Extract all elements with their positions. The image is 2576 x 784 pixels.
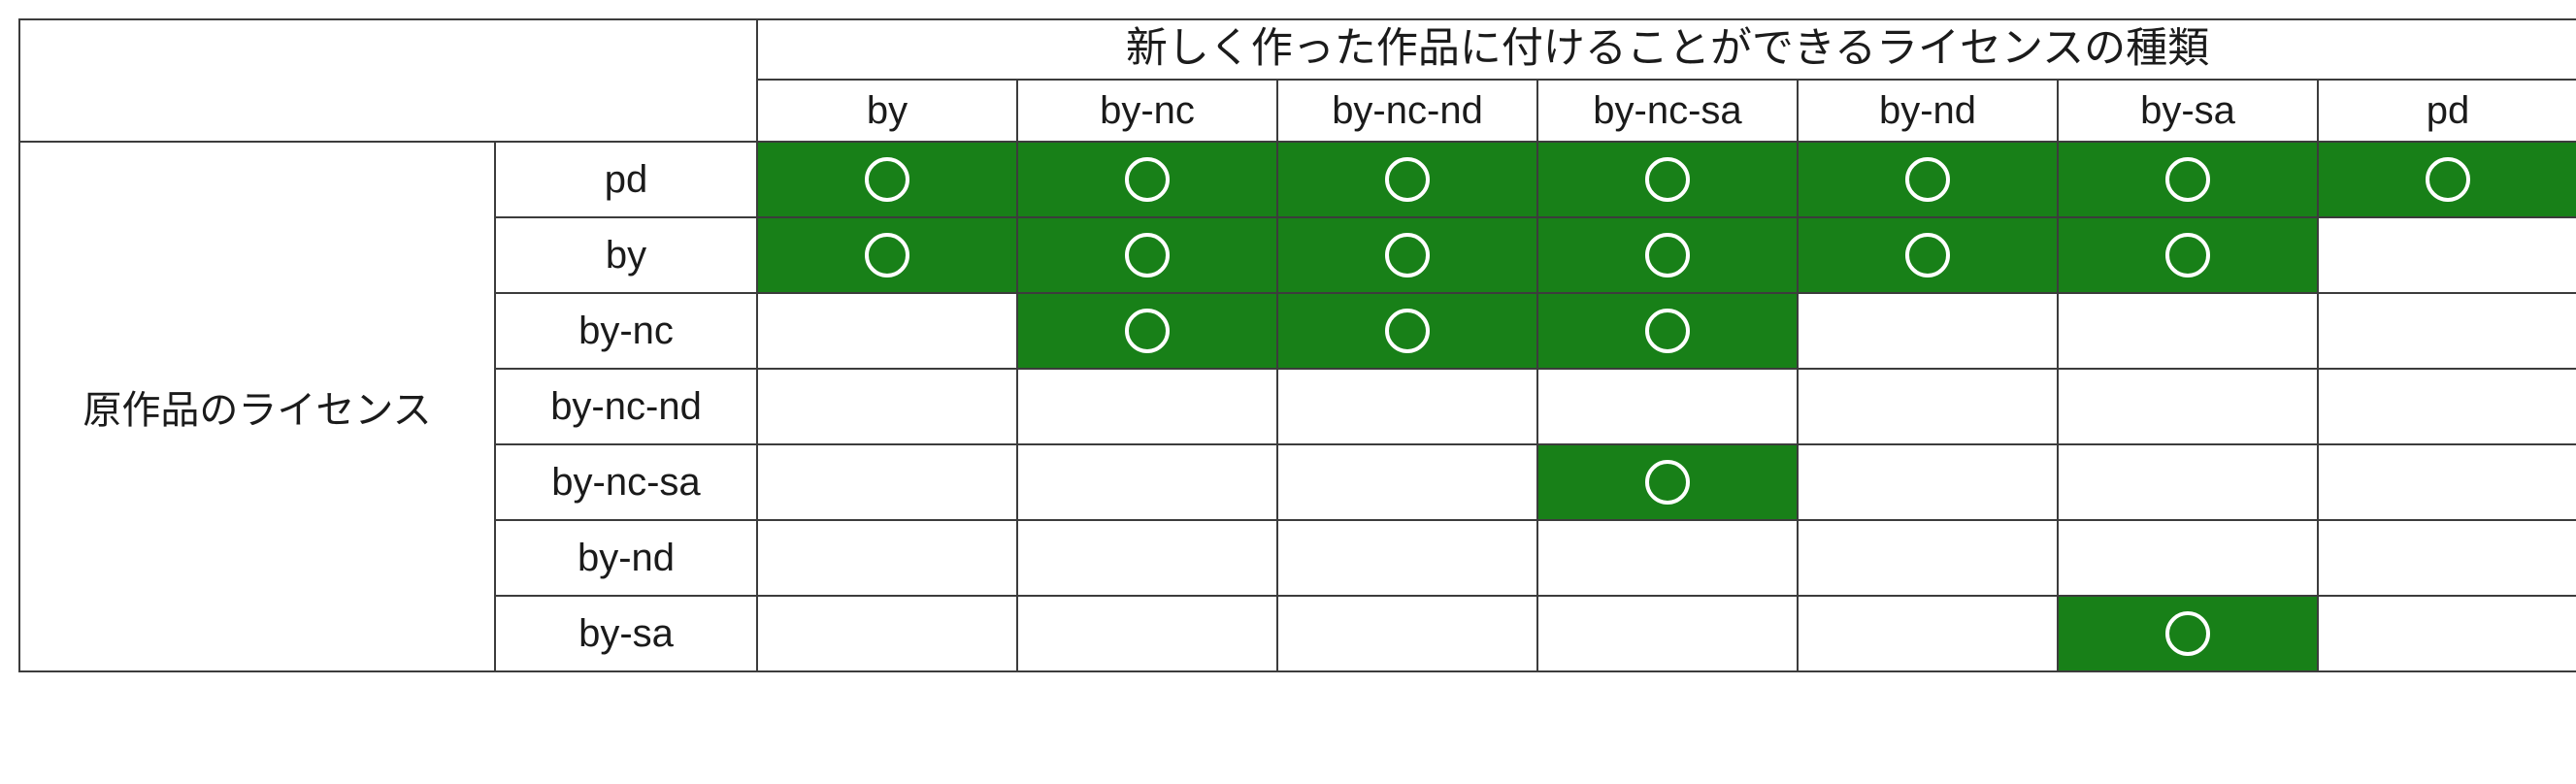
row-header-by-nc-nd: by-nc-nd (495, 369, 757, 444)
cell-by-nc-sa-to-pd (2318, 444, 2576, 520)
row-header-pd: pd (495, 142, 757, 217)
allowed-circle-icon (865, 157, 909, 202)
cell-by-nc-nd-to-by (757, 369, 1017, 444)
allowed-circle-icon (1125, 309, 1170, 353)
cell-by-nc-nd-to-by-nc-nd (1277, 369, 1537, 444)
allowed-circle-icon (1125, 233, 1170, 278)
cell-pd-to-by-nd (1798, 142, 2058, 217)
allowed-circle-icon (865, 233, 909, 278)
allowed-circle-icon (1645, 157, 1690, 202)
cell-by-to-by-nc (1017, 217, 1277, 293)
allowed-circle-icon (1385, 233, 1430, 278)
cell-by-to-pd (2318, 217, 2576, 293)
column-header-by-nd: by-nd (1798, 80, 2058, 142)
table-header-row-title: 新しく作った作品に付けることができるライセンスの種類 (19, 19, 2576, 80)
cell-by-sa-to-by-nc (1017, 596, 1277, 671)
column-header-by-nc: by-nc (1017, 80, 1277, 142)
cell-by-nc-to-by-nc-sa (1537, 293, 1798, 369)
allowed-circle-icon (2165, 233, 2210, 278)
row-header-by: by (495, 217, 757, 293)
cell-by-nd-to-by-sa (2058, 520, 2318, 596)
cell-by-nd-to-by-nc-sa (1537, 520, 1798, 596)
cell-by-nd-to-by-nc-nd (1277, 520, 1537, 596)
allowed-circle-icon (1645, 309, 1690, 353)
corner-cell (19, 19, 757, 142)
column-header-by-sa: by-sa (2058, 80, 2318, 142)
allowed-circle-icon (2165, 157, 2210, 202)
allowed-circle-icon (1905, 157, 1950, 202)
allowed-circle-icon (2426, 157, 2470, 202)
cell-by-to-by-nc-nd (1277, 217, 1537, 293)
allowed-circle-icon (1645, 233, 1690, 278)
column-header-by: by (757, 80, 1017, 142)
row-header-by-sa: by-sa (495, 596, 757, 671)
cell-by-nc-nd-to-by-nd (1798, 369, 2058, 444)
row-header-by-nc: by-nc (495, 293, 757, 369)
allowed-circle-icon (1645, 460, 1690, 505)
cell-by-to-by-nc-sa (1537, 217, 1798, 293)
cell-by-sa-to-by-nc-sa (1537, 596, 1798, 671)
cell-by-nd-to-by-nc (1017, 520, 1277, 596)
row-header-by-nd: by-nd (495, 520, 757, 596)
cell-by-to-by (757, 217, 1017, 293)
cell-by-nc-to-by-nd (1798, 293, 2058, 369)
allowed-circle-icon (1385, 157, 1430, 202)
cell-by-nc-to-by-nc (1017, 293, 1277, 369)
cell-pd-to-pd (2318, 142, 2576, 217)
allowed-circle-icon (2165, 611, 2210, 656)
cell-by-nc-sa-to-by-nd (1798, 444, 2058, 520)
row-header-by-nc-sa: by-nc-sa (495, 444, 757, 520)
cell-by-to-by-nd (1798, 217, 2058, 293)
cell-by-nc-sa-to-by-sa (2058, 444, 2318, 520)
cell-pd-to-by-sa (2058, 142, 2318, 217)
cell-by-nc-to-by-nc-nd (1277, 293, 1537, 369)
column-header-by-nc-nd: by-nc-nd (1277, 80, 1537, 142)
cell-by-nc-to-by-sa (2058, 293, 2318, 369)
cell-by-nd-to-pd (2318, 520, 2576, 596)
cell-by-nc-nd-to-by-nc (1017, 369, 1277, 444)
cell-by-nc-to-pd (2318, 293, 2576, 369)
cell-by-nc-sa-to-by-nc-sa (1537, 444, 1798, 520)
cell-pd-to-by-nc-sa (1537, 142, 1798, 217)
allowed-circle-icon (1125, 157, 1170, 202)
allowed-circle-icon (1905, 233, 1950, 278)
column-header-pd: pd (2318, 80, 2576, 142)
column-header-by-nc-sa: by-nc-sa (1537, 80, 1798, 142)
cell-pd-to-by-nc-nd (1277, 142, 1537, 217)
license-compatibility-table: 新しく作った作品に付けることができるライセンスの種類byby-ncby-nc-n… (18, 18, 2576, 672)
cell-by-sa-to-by (757, 596, 1017, 671)
column-group-title: 新しく作った作品に付けることができるライセンスの種類 (757, 19, 2576, 80)
cell-by-sa-to-pd (2318, 596, 2576, 671)
license-compatibility-page: 新しく作った作品に付けることができるライセンスの種類byby-ncby-nc-n… (0, 0, 2576, 784)
table-row: 原作品のライセンスpd (19, 142, 2576, 217)
cell-pd-to-by (757, 142, 1017, 217)
cell-by-nc-nd-to-pd (2318, 369, 2576, 444)
cell-by-nd-to-by (757, 520, 1017, 596)
cell-by-nc-nd-to-by-sa (2058, 369, 2318, 444)
cell-by-nc-to-by (757, 293, 1017, 369)
cell-by-nc-sa-to-by-nc (1017, 444, 1277, 520)
cell-by-nc-nd-to-by-nc-sa (1537, 369, 1798, 444)
cell-by-sa-to-by-sa (2058, 596, 2318, 671)
cell-by-sa-to-by-nd (1798, 596, 2058, 671)
cell-by-sa-to-by-nc-nd (1277, 596, 1537, 671)
cell-pd-to-by-nc (1017, 142, 1277, 217)
cell-by-nc-sa-to-by-nc-nd (1277, 444, 1537, 520)
row-group-title: 原作品のライセンス (19, 142, 495, 671)
cell-by-nc-sa-to-by (757, 444, 1017, 520)
allowed-circle-icon (1385, 309, 1430, 353)
cell-by-nd-to-by-nd (1798, 520, 2058, 596)
cell-by-to-by-sa (2058, 217, 2318, 293)
